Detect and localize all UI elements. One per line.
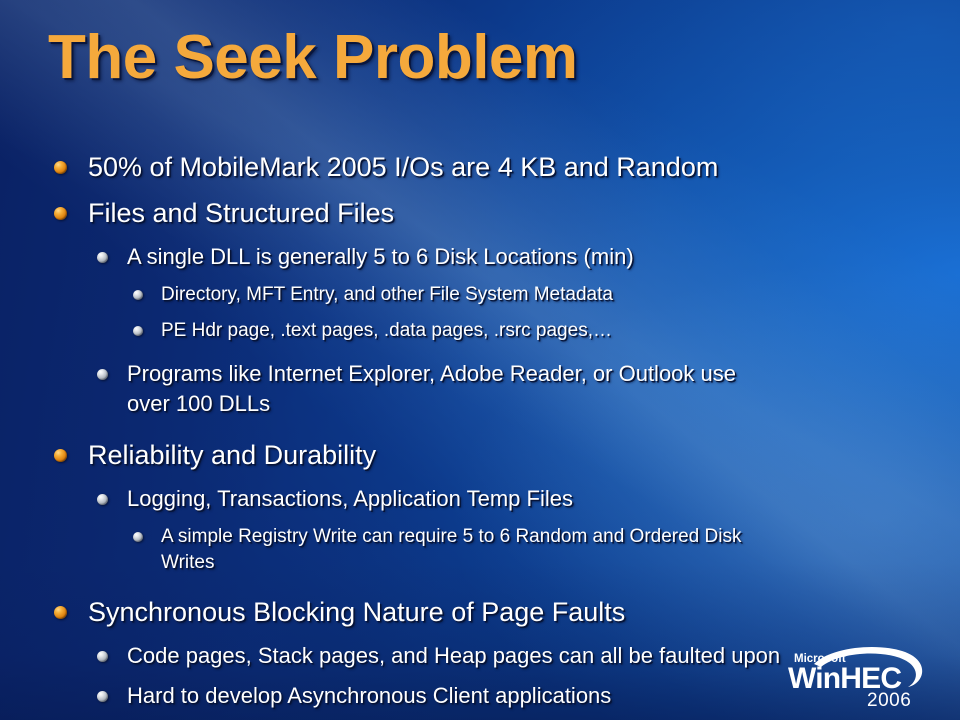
- bullet-marker-orange-icon: [54, 449, 67, 462]
- bullet-text: Directory, MFT Entry, and other File Sys…: [161, 282, 960, 308]
- bullet-item-level1: 50% of MobileMark 2005 I/Os are 4 KB and…: [0, 150, 960, 185]
- bullet-text: Logging, Transactions, Application Temp …: [127, 484, 960, 514]
- bullet-marker-silver-icon: [97, 691, 108, 702]
- spacer: [0, 476, 960, 484]
- winhec-logo: Microsoft WinHEC 2006: [774, 640, 942, 714]
- bullet-marker-orange-icon: [54, 606, 67, 619]
- bullet-item-level1: Files and Structured Files: [0, 196, 960, 231]
- presentation-slide: The Seek Problem 50% of MobileMark 2005 …: [0, 0, 960, 720]
- bullet-item-level3: Directory, MFT Entry, and other File Sys…: [0, 282, 960, 308]
- spacer: [0, 578, 960, 595]
- logo-year-text: 2006: [867, 690, 911, 711]
- bullet-item-level1: Reliability and Durability: [0, 438, 960, 473]
- bullet-text: Synchronous Blocking Nature of Page Faul…: [88, 595, 960, 630]
- spacer: [0, 188, 960, 196]
- bullet-item-level1: Synchronous Blocking Nature of Page Faul…: [0, 595, 960, 630]
- bullet-text: A single DLL is generally 5 to 6 Disk Lo…: [127, 242, 960, 272]
- bullet-marker-silver-icon: [133, 290, 143, 300]
- bullet-item-level2: Programs like Internet Explorer, Adobe R…: [0, 359, 960, 419]
- slide-title: The Seek Problem: [48, 22, 578, 93]
- bullet-text: A simple Registry Write can require 5 to…: [161, 524, 771, 576]
- bullet-marker-silver-icon: [97, 494, 108, 505]
- bullet-item-level2: A single DLL is generally 5 to 6 Disk Lo…: [0, 242, 960, 272]
- bullet-text: PE Hdr page, .text pages, .data pages, .…: [161, 318, 960, 344]
- slide-body-content: 50% of MobileMark 2005 I/Os are 4 KB and…: [0, 150, 960, 713]
- bullet-text: Reliability and Durability: [88, 438, 960, 473]
- spacer: [0, 274, 960, 282]
- bullet-text: Programs like Internet Explorer, Adobe R…: [127, 359, 767, 419]
- spacer: [0, 310, 960, 318]
- bullet-text: Files and Structured Files: [88, 196, 960, 231]
- winhec-logo-graphic: Microsoft WinHEC 2006: [774, 640, 942, 714]
- bullet-marker-silver-icon: [133, 326, 143, 336]
- bullet-item-level3: PE Hdr page, .text pages, .data pages, .…: [0, 318, 960, 344]
- bullet-text: 50% of MobileMark 2005 I/Os are 4 KB and…: [88, 150, 960, 185]
- spacer: [0, 516, 960, 524]
- bullet-marker-silver-icon: [97, 651, 108, 662]
- bullet-item-level2: Logging, Transactions, Application Temp …: [0, 484, 960, 514]
- spacer: [0, 421, 960, 438]
- bullet-marker-orange-icon: [54, 161, 67, 174]
- bullet-marker-silver-icon: [133, 532, 143, 542]
- bullet-item-level3: A simple Registry Write can require 5 to…: [0, 524, 960, 576]
- bullet-marker-silver-icon: [97, 369, 108, 380]
- bullet-marker-orange-icon: [54, 207, 67, 220]
- spacer: [0, 234, 960, 242]
- bullet-marker-silver-icon: [97, 252, 108, 263]
- spacer: [0, 346, 960, 359]
